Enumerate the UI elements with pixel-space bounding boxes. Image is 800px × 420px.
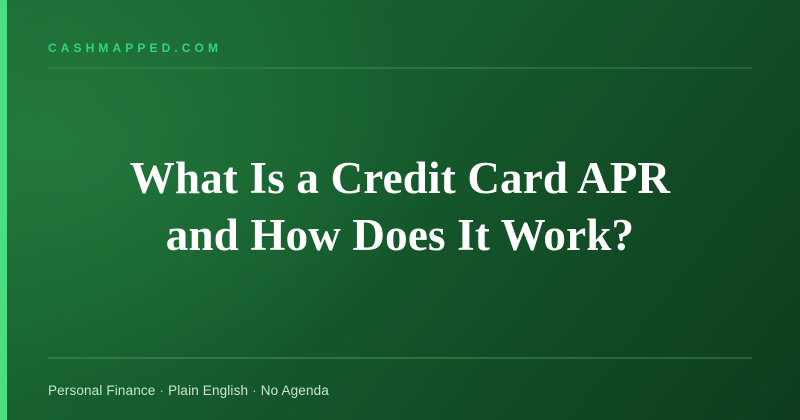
divider-top [48,67,752,69]
page-title-line-2: and How Does It Work? [0,207,800,264]
footer-separator-2: · [248,383,261,398]
footer-tag-plain-english: Plain English [168,383,248,398]
footer-separator-1: · [155,383,168,398]
footer-tag-personal-finance: Personal Finance [48,383,155,398]
page-title-line-1: What Is a Credit Card APR [0,150,800,207]
divider-bottom [48,357,752,359]
footer-tag-no-agenda: No Agenda [261,383,329,398]
social-share-card: CASHMAPPED.COM What Is a Credit Card APR… [0,0,800,420]
footer-tagline: Personal Finance·Plain English·No Agenda [48,382,329,400]
brand-wordmark: CASHMAPPED.COM [48,40,222,56]
page-title: What Is a Credit Card APR and How Does I… [0,150,800,264]
